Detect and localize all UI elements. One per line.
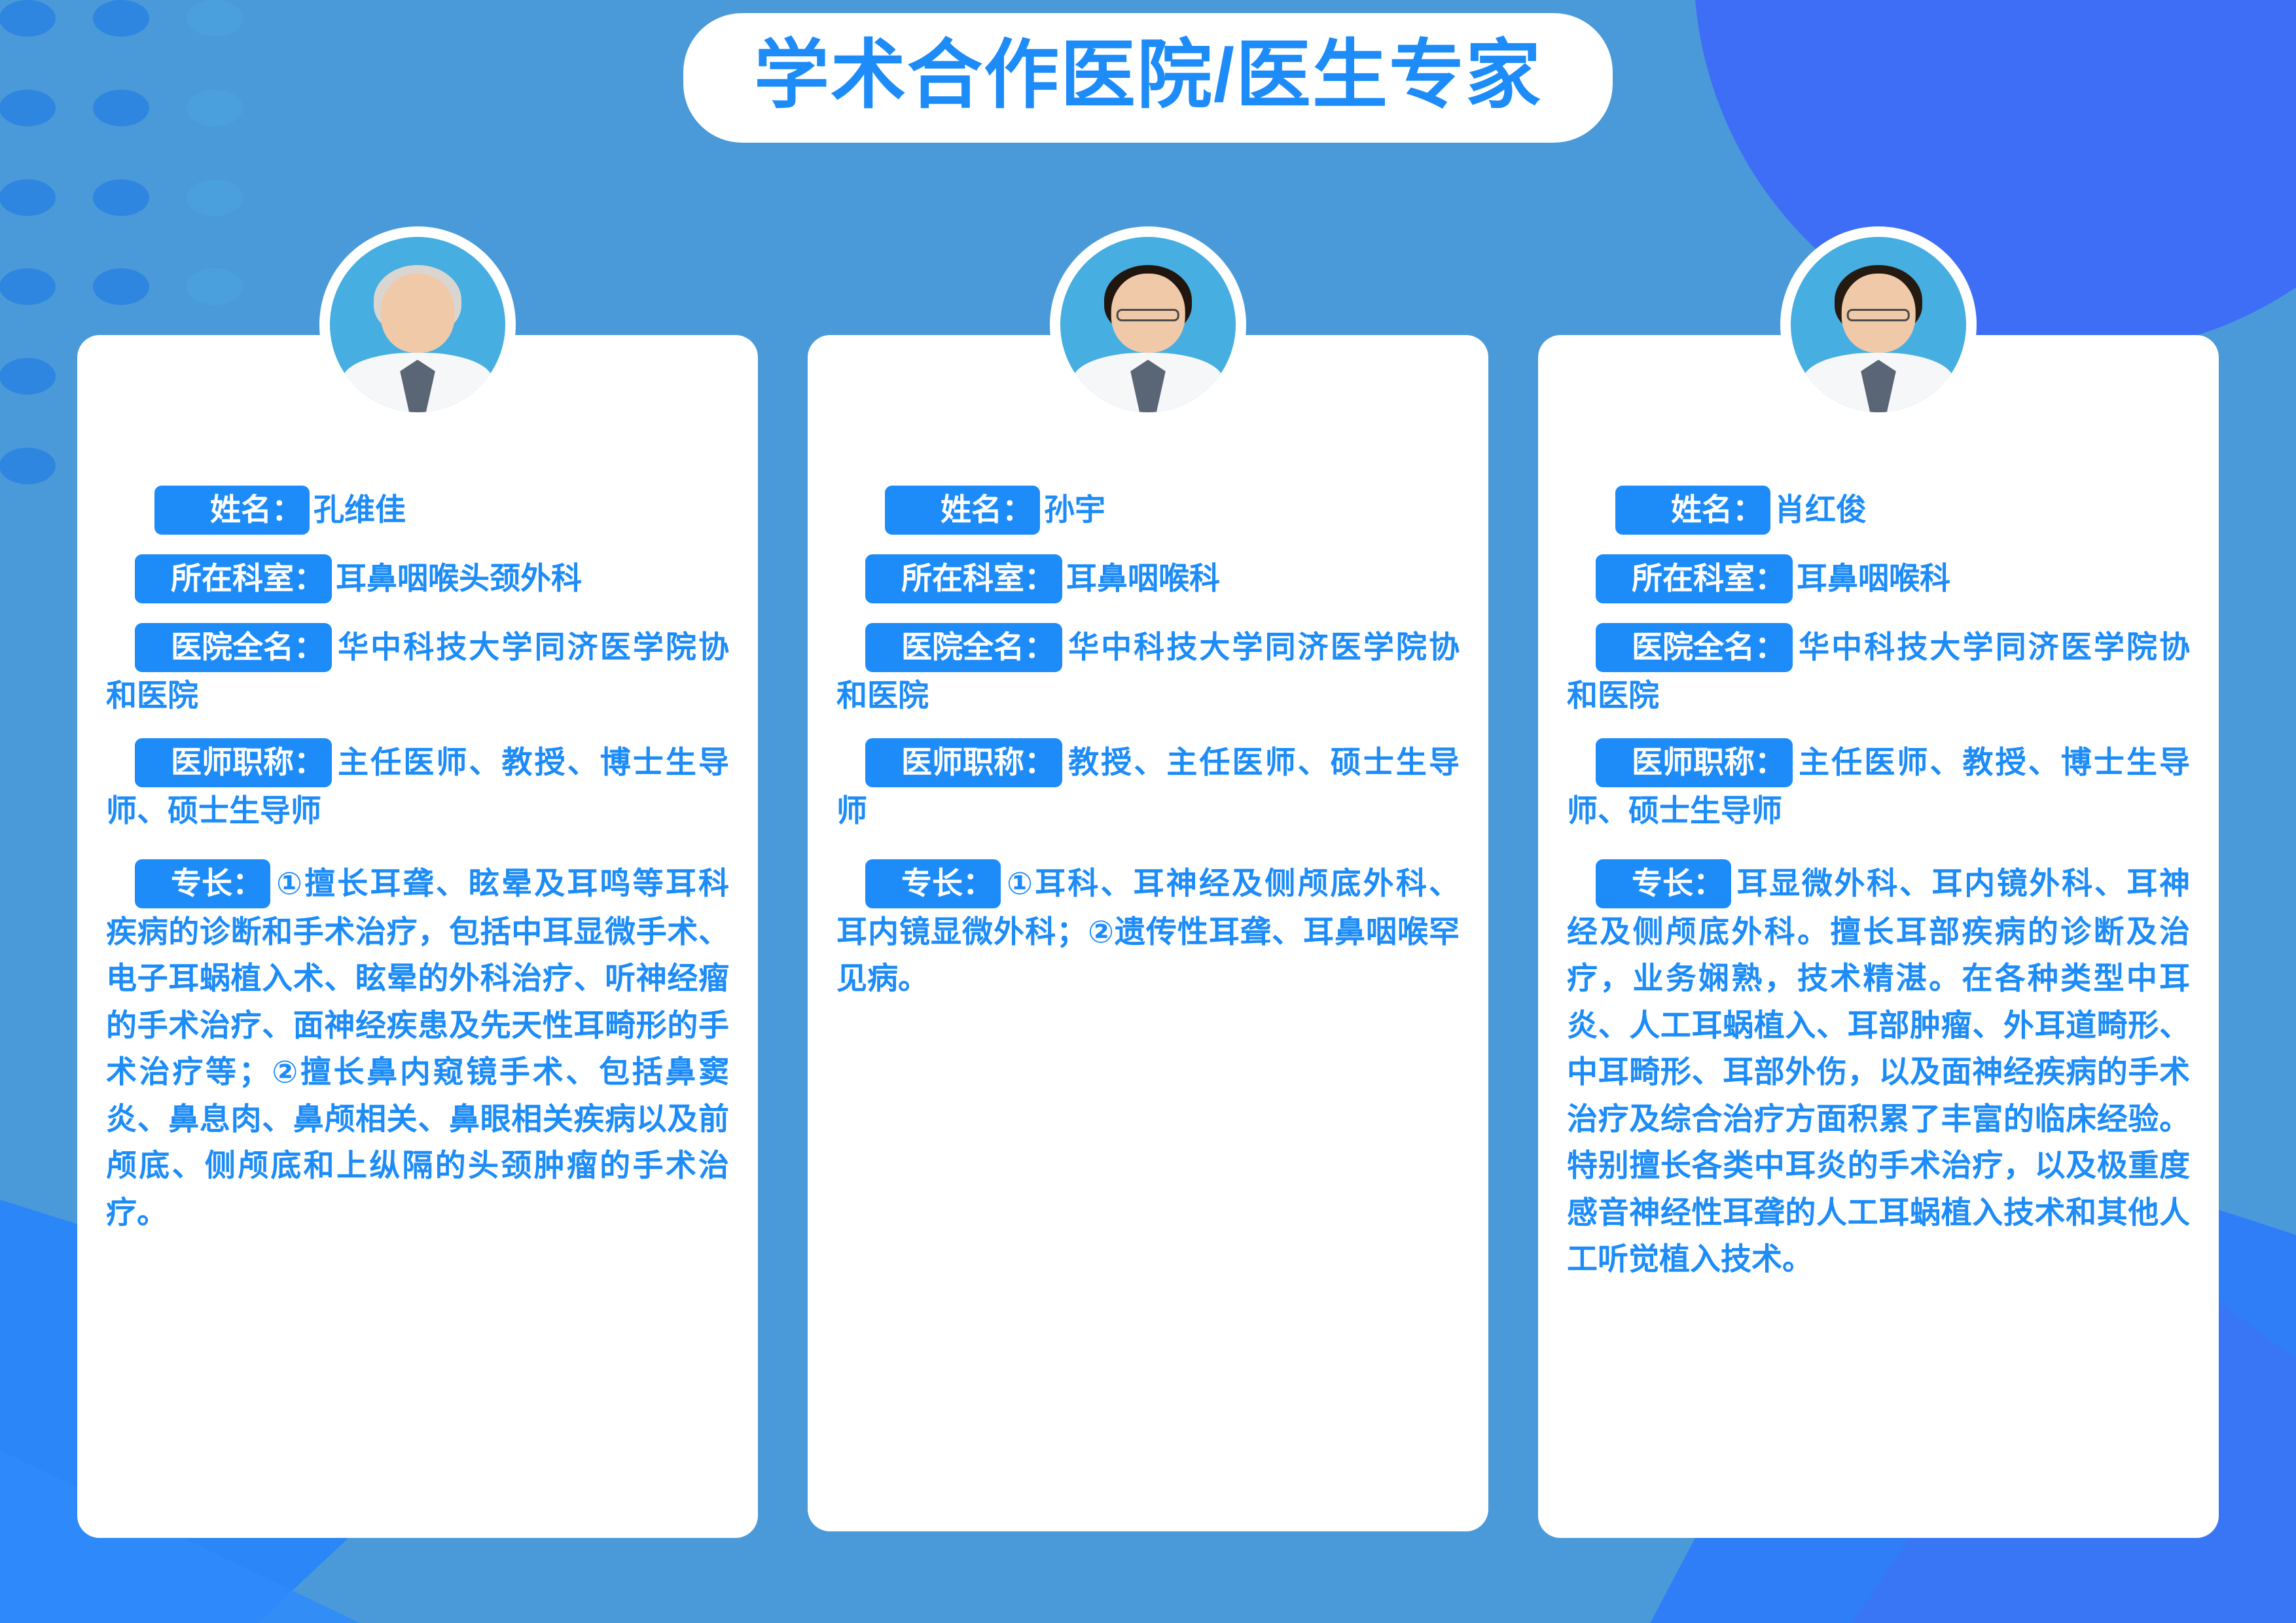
doctor-fields: 姓名：肖红俊 所在科室：耳鼻咽喉科 医院全名：华中科技大学同济医学院协和医院 医… xyxy=(1567,486,2190,1282)
value-department: 耳鼻咽喉头颈外科 xyxy=(336,561,582,596)
field-specialty: 专长：①擅长耳聋、眩晕及耳鸣等耳科疾病的诊断和手术治疗，包括中耳显微手术、电子耳… xyxy=(106,859,729,1236)
field-department: 所在科室：耳鼻咽喉科 xyxy=(836,554,1460,603)
avatar-glasses-shape xyxy=(1117,309,1179,321)
label-department: 所在科室： xyxy=(1596,554,1793,603)
avatar xyxy=(319,226,516,423)
doctor-card[interactable]: 姓名：孙宇 所在科室：耳鼻咽喉科 医院全名：华中科技大学同济医学院协和医院 医师… xyxy=(808,335,1488,1531)
field-hospital: 医院全名：华中科技大学同济医学院协和医院 xyxy=(106,623,729,719)
avatar-photo xyxy=(1791,237,1966,412)
field-hospital: 医院全名：华中科技大学同济医学院协和医院 xyxy=(1567,623,2190,719)
avatar xyxy=(1780,226,1977,423)
label-specialty: 专长： xyxy=(135,859,270,908)
label-hospital: 医院全名： xyxy=(135,623,332,672)
label-rank: 医师职称： xyxy=(135,738,332,787)
value-specialty: ①擅长耳聋、眩晕及耳鸣等耳科疾病的诊断和手术治疗，包括中耳显微手术、电子耳蜗植入… xyxy=(106,866,729,1230)
dot-decoration xyxy=(0,0,56,37)
dot-decoration xyxy=(187,179,243,216)
label-hospital: 医院全名： xyxy=(1596,623,1793,672)
doctor-fields: 姓名：孔维佳 所在科室：耳鼻咽喉头颈外科 医院全名：华中科技大学同济医学院协和医… xyxy=(106,486,729,1236)
field-specialty: 专长：耳显微外科、耳内镜外科、耳神经及侧颅底外科。擅长耳部疾病的诊断及治疗，业务… xyxy=(1567,859,2190,1283)
value-name: 肖红俊 xyxy=(1774,492,1867,527)
value-department: 耳鼻咽喉科 xyxy=(1066,561,1220,596)
dot-decoration xyxy=(187,0,243,37)
value-name: 孔维佳 xyxy=(314,492,406,527)
label-rank: 医师职称： xyxy=(865,738,1062,787)
avatar-photo xyxy=(1060,237,1236,412)
field-rank: 医师职称：主任医师、教授、博士生导师、硕士生导师 xyxy=(106,738,729,834)
field-department: 所在科室：耳鼻咽喉科 xyxy=(1567,554,2190,603)
dot-decoration xyxy=(0,448,56,484)
field-rank: 医师职称：教授、主任医师、硕士生导师 xyxy=(836,738,1460,834)
dot-decoration xyxy=(0,358,56,395)
value-specialty: 耳显微外科、耳内镜外科、耳神经及侧颅底外科。擅长耳部疾病的诊断及治疗，业务娴熟，… xyxy=(1567,866,2190,1276)
field-hospital: 医院全名：华中科技大学同济医学院协和医院 xyxy=(836,623,1460,719)
dot-decoration xyxy=(93,90,149,126)
avatar xyxy=(1050,226,1246,423)
label-rank: 医师职称： xyxy=(1596,738,1793,787)
doctor-card[interactable]: 姓名：孔维佳 所在科室：耳鼻咽喉头颈外科 医院全名：华中科技大学同济医学院协和医… xyxy=(77,335,758,1538)
label-specialty: 专长： xyxy=(865,859,1001,908)
label-department: 所在科室： xyxy=(135,554,332,603)
label-name: 姓名： xyxy=(885,486,1040,535)
label-name: 姓名： xyxy=(1615,486,1770,535)
dot-decoration xyxy=(93,179,149,216)
field-specialty: 专长：①耳科、耳神经及侧颅底外科、耳内镜显微外科；②遗传性耳聋、耳鼻咽喉罕见病。 xyxy=(836,859,1460,1002)
field-name: 姓名：孙宇 xyxy=(836,486,1460,535)
dot-decoration xyxy=(0,90,56,126)
doctor-card[interactable]: 姓名：肖红俊 所在科室：耳鼻咽喉科 医院全名：华中科技大学同济医学院协和医院 医… xyxy=(1538,335,2219,1538)
field-name: 姓名：肖红俊 xyxy=(1567,486,2190,535)
label-specialty: 专长： xyxy=(1596,859,1731,908)
label-hospital: 医院全名： xyxy=(865,623,1062,672)
avatar-glasses-shape xyxy=(1847,309,1910,321)
value-name: 孙宇 xyxy=(1044,492,1105,527)
title-pill: 学术合作医院/医生专家 xyxy=(683,13,1613,143)
doctor-card-list: 姓名：孔维佳 所在科室：耳鼻咽喉头颈外科 医院全名：华中科技大学同济医学院协和医… xyxy=(77,335,2219,1538)
page-header: 学术合作医院/医生专家 xyxy=(683,13,1613,143)
label-name: 姓名： xyxy=(154,486,310,535)
label-department: 所在科室： xyxy=(865,554,1062,603)
dot-decoration xyxy=(0,268,56,305)
dot-decoration xyxy=(187,90,243,126)
field-rank: 医师职称：主任医师、教授、博士生导师、硕士生导师 xyxy=(1567,738,2190,834)
dot-decoration xyxy=(187,268,243,305)
avatar-photo xyxy=(330,237,505,412)
dot-decoration xyxy=(0,179,56,216)
dot-decoration xyxy=(93,0,149,37)
field-department: 所在科室：耳鼻咽喉头颈外科 xyxy=(106,554,729,603)
value-department: 耳鼻咽喉科 xyxy=(1797,561,1950,596)
field-name: 姓名：孔维佳 xyxy=(106,486,729,535)
avatar-face-shape xyxy=(381,274,455,353)
dot-decoration xyxy=(93,268,149,305)
page-title: 学术合作医院/医生专家 xyxy=(746,31,1550,120)
doctor-fields: 姓名：孙宇 所在科室：耳鼻咽喉科 医院全名：华中科技大学同济医学院协和医院 医师… xyxy=(836,486,1460,1002)
